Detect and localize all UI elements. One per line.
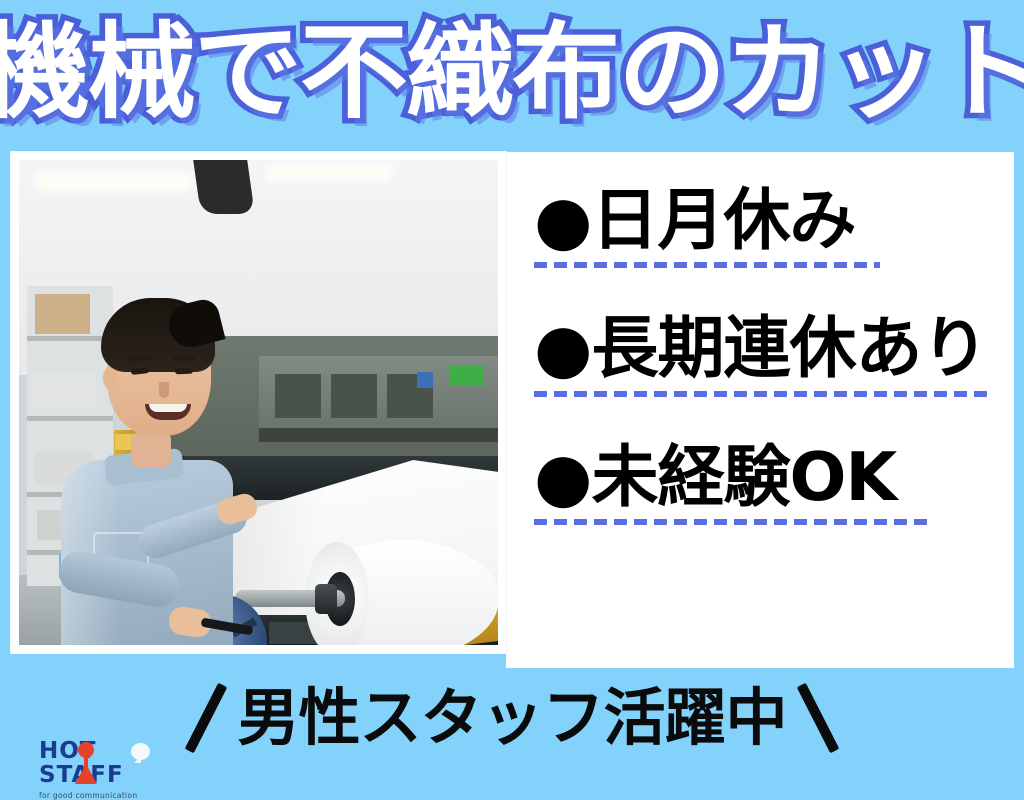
right-slash-icon	[796, 683, 839, 753]
worker-neck	[131, 432, 171, 468]
benefit-text-2: 長期連休あり	[591, 309, 987, 387]
photo-frame: HOT STAFF for good communication	[11, 152, 506, 653]
spacer	[534, 278, 994, 312]
benefits-card: ●日月休み ●長期連休あり ●未経験OK	[506, 152, 1014, 668]
cardboard-box	[35, 294, 90, 334]
page-title: 機械で不織布のカット	[0, 20, 1024, 124]
benefit-label-2: ●長期連休あり	[534, 312, 994, 384]
shelf-rail	[27, 336, 113, 341]
storage-box	[33, 374, 95, 408]
benefit-label-3: ●未経験OK	[534, 441, 994, 513]
benefit-label-1: ●日月休み	[534, 184, 994, 256]
dashed-underline	[534, 262, 880, 268]
machine-panel	[331, 374, 377, 418]
worker-photo	[19, 160, 498, 645]
poster-canvas: 機械で不織布のカット	[0, 0, 1024, 768]
roller-shaft-cap	[315, 584, 337, 614]
dashed-underline	[534, 519, 934, 525]
list-item: ●未経験OK	[534, 441, 994, 525]
spacer	[534, 407, 994, 441]
machine-rail	[259, 428, 498, 442]
dashed-underline	[534, 391, 989, 397]
bullet-marker: ●	[534, 438, 591, 516]
benefit-text-1: 日月休み	[591, 181, 855, 259]
machine-indicator	[449, 366, 483, 386]
worker-teeth	[149, 404, 187, 412]
ceiling-duct	[193, 160, 255, 214]
machine-indicator	[417, 372, 433, 388]
shelf-rail	[27, 416, 113, 421]
ceiling-light-icon	[268, 168, 390, 178]
bottom-banner: 男性スタッフ活躍中	[0, 668, 1024, 768]
benefits-list: ●日月休み ●長期連休あり ●未経験OK	[534, 184, 994, 535]
list-item: ●長期連休あり	[534, 312, 994, 396]
headline-banner: 機械で不織布のカット	[0, 8, 1024, 136]
list-item: ●日月休み	[534, 184, 994, 268]
ceiling-light-icon	[38, 176, 190, 187]
banner-message: 男性スタッフ活躍中	[237, 687, 786, 749]
bullet-marker: ●	[534, 309, 591, 387]
bullet-marker: ●	[534, 181, 591, 259]
logo-tagline: for good communication	[39, 791, 167, 800]
machine-panel	[275, 374, 321, 418]
worker-eye	[175, 368, 193, 375]
left-slash-icon	[185, 683, 228, 753]
benefit-text-3: 未経験OK	[591, 438, 896, 516]
worker-nose	[159, 382, 169, 398]
